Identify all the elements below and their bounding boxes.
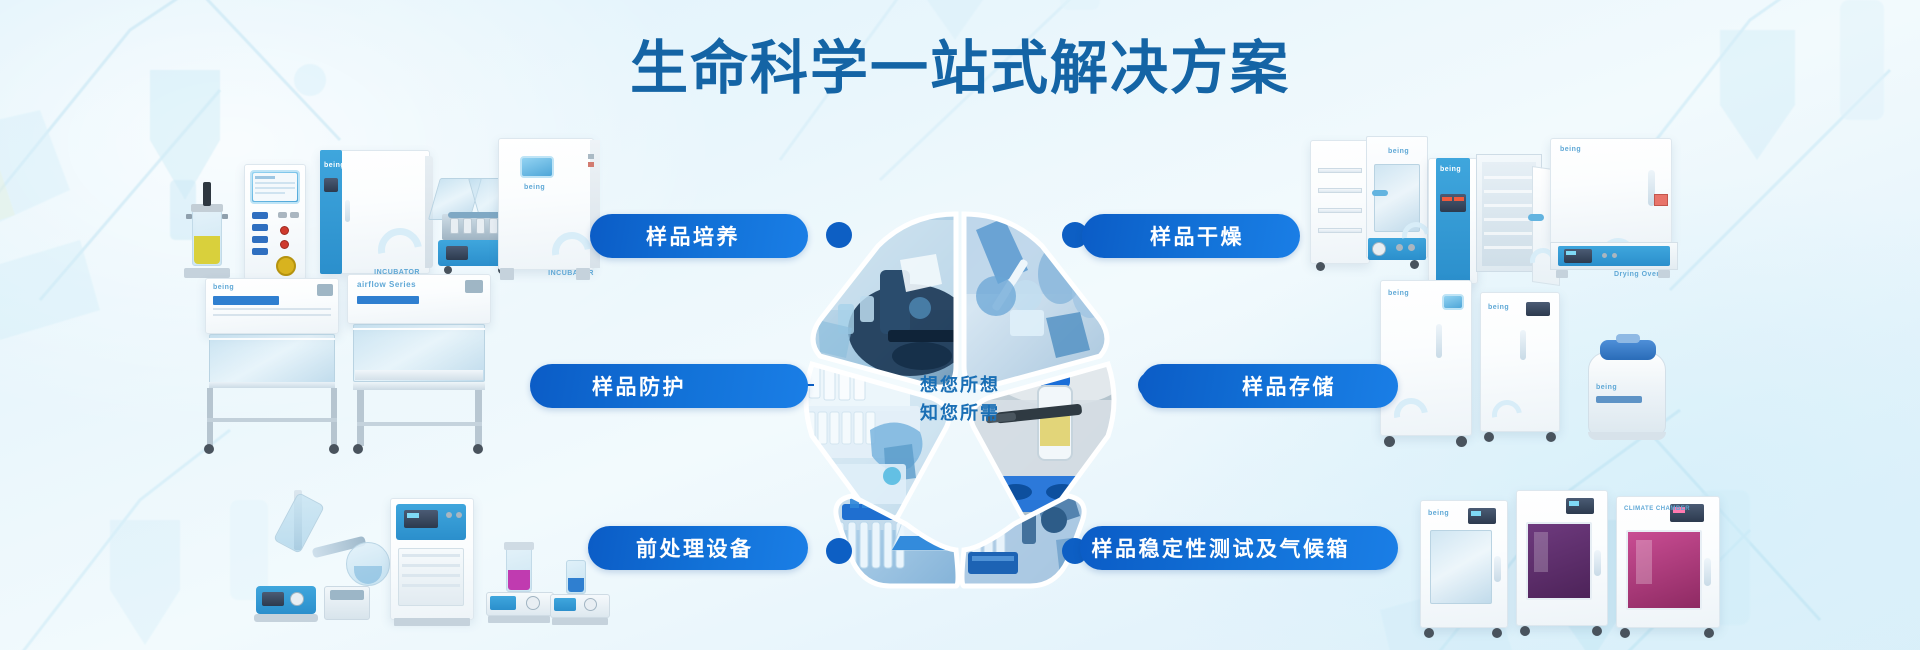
equipment-group-safety-cabinets: being airflow Series bbox=[205, 278, 515, 453]
slogan-line-2: 知您所需 bbox=[920, 400, 1000, 428]
category-pill-incubate[interactable]: 样品培养 bbox=[590, 214, 808, 258]
equipment-group-incubators: being INCUBATOR being INCU bbox=[180, 150, 600, 280]
category-label-incubate: 样品培养 bbox=[646, 221, 740, 251]
category-label-dry: 样品干燥 bbox=[1150, 221, 1244, 251]
connector-dot-prep[interactable] bbox=[826, 538, 852, 564]
category-label-prep: 前处理设备 bbox=[636, 533, 754, 563]
wheel-center-slogan: 想您所想 知您所需 bbox=[920, 372, 1000, 428]
rotary-evaporator-image bbox=[250, 490, 400, 636]
high-temp-oven-image: being Drying Oven bbox=[1550, 138, 1686, 280]
equipment-group-prep bbox=[250, 490, 620, 640]
large-incubator-image: being INCUBATOR bbox=[498, 138, 602, 282]
airflow-clean-bench-image: being bbox=[205, 278, 345, 453]
control-unit-image bbox=[244, 164, 306, 280]
category-label-protect: 样品防护 bbox=[592, 371, 686, 401]
page-title: 生命科学一站式解决方案 bbox=[0, 38, 1920, 101]
biosafety-cabinet-image: airflow Series bbox=[347, 274, 497, 452]
category-pill-dry[interactable]: 样品干燥 bbox=[1082, 214, 1300, 258]
stability-chamber-1-image: being bbox=[1420, 500, 1512, 640]
category-pill-store[interactable]: 样品存储 bbox=[1140, 364, 1398, 408]
ln2-tank-image: being bbox=[1582, 336, 1674, 444]
connector-dot-incubate[interactable] bbox=[826, 222, 852, 248]
category-label-store: 样品存储 bbox=[1242, 371, 1336, 401]
stability-chamber-2-image bbox=[1516, 490, 1612, 638]
banner-root: 生命科学一站式解决方案 bbox=[0, 0, 1920, 650]
equipment-group-storage: being being being bbox=[1380, 280, 1700, 455]
equipment-group-stability-chambers: being CLIMATE CHAMBER bbox=[1420, 490, 1750, 640]
category-pill-protect[interactable]: 样品防护 bbox=[530, 364, 808, 408]
climate-chamber-image: CLIMATE CHAMBER bbox=[1616, 496, 1724, 640]
chiller-image bbox=[390, 498, 480, 630]
category-pill-prep[interactable]: 前处理设备 bbox=[588, 526, 808, 570]
co2-incubator-image: being INCUBATOR bbox=[320, 150, 430, 280]
vortex-mixer-image bbox=[550, 560, 616, 632]
slogan-line-1: 想您所想 bbox=[920, 372, 1000, 400]
category-pill-stability[interactable]: 样品稳定性测试及气候箱 bbox=[1080, 526, 1398, 570]
forced-air-oven-image: being bbox=[1428, 158, 1560, 288]
bioreactor-image bbox=[180, 180, 234, 280]
equipment-group-drying-ovens: being being bbox=[1300, 130, 1700, 290]
magnetic-stirrer-image bbox=[486, 546, 558, 630]
upright-freezer-image: being bbox=[1480, 292, 1564, 444]
vacuum-drying-oven-image: being bbox=[1310, 140, 1428, 278]
ult-freezer-image: being bbox=[1380, 280, 1476, 448]
category-label-stability: 样品稳定性测试及气候箱 bbox=[1092, 533, 1351, 563]
